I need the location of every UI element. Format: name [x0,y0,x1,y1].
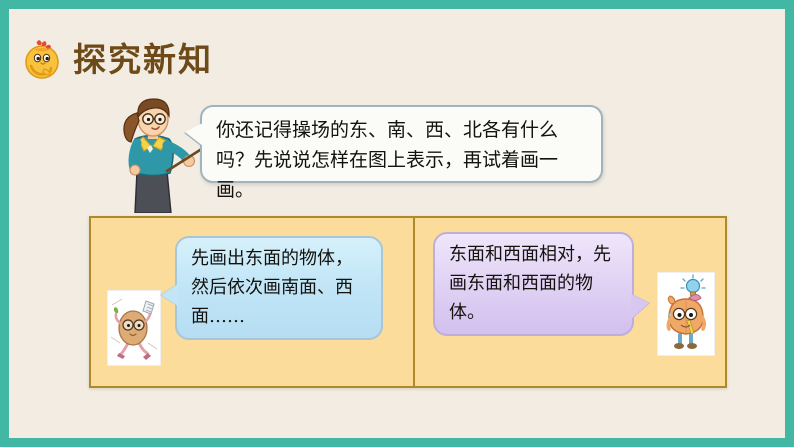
page-content-area: 探究新知 [9,9,785,438]
teacher-speech-bubble: 你还记得操场的东、南、西、北各有什么吗？先说说怎样在图上表示，再试着画一画。 [200,105,603,183]
peach-student-figure [657,272,715,356]
speech-bubble-tail [185,123,203,146]
dialogue-panel: 先画出东面的物体，然后依次画南面、西面…… 东面和西面相对，先画东面和西面的物体… [89,216,727,388]
page-title: 探究新知 [73,43,213,76]
right-speech-bubble: 东面和西面相对，先画东面和西面的物体。 [433,232,634,336]
slide-root: 探究新知 [0,0,794,447]
teacher-speech-text: 你还记得操场的东、南、西、北各有什么吗？先说说怎样在图上表示，再试着画一画。 [216,115,591,205]
left-speech-text: 先画出东面的物体，然后依次画南面、西面…… [191,244,369,331]
teacher-with-pointer-figure [105,95,213,213]
right-panel-cell: 东面和西面相对，先画东面和西面的物体。 [415,218,725,386]
speech-bubble-tail [631,294,649,319]
left-panel-cell: 先画出东面的物体，然后依次画南面、西面…… [91,218,415,386]
chick-mascot-icon [19,36,65,82]
speech-bubble-tail [161,284,178,306]
left-speech-bubble: 先画出东面的物体，然后依次画南面、西面…… [175,236,383,340]
potato-student-figure [107,290,161,366]
right-speech-text: 东面和西面相对，先画东面和西面的物体。 [449,240,620,327]
header: 探究新知 [19,33,213,85]
